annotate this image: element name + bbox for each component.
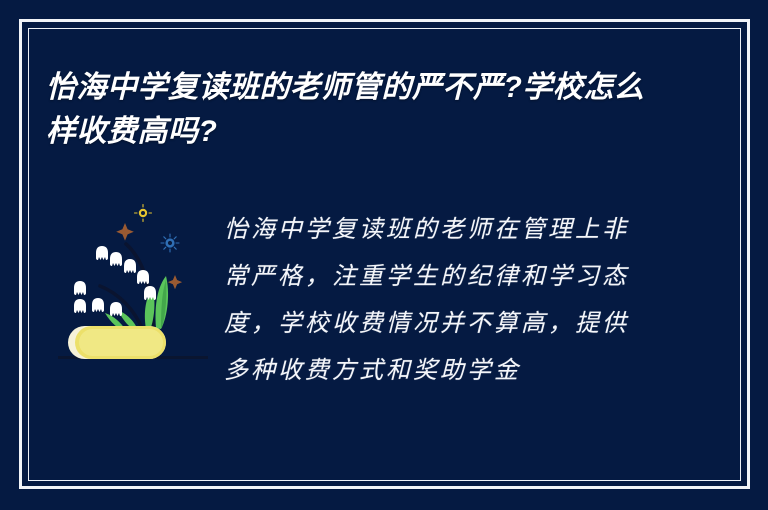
flower-pot: [68, 326, 166, 359]
sparkle-orange-lower-icon: [168, 275, 182, 289]
page-title: 怡海中学复读班的老师管的严不严?学校怎么样收费高吗?: [46, 66, 646, 154]
article-body: 怡海中学复读班的老师在管理上非常严格，注重学生的纪律和学习态度，学校收费情况并不…: [224, 206, 652, 394]
sparkle-orange-upper-icon: [116, 223, 134, 241]
sparkle-blue-icon: [161, 234, 179, 252]
article-card: 怡海中学复读班的老师管的严不严?学校怎么样收费高吗?: [0, 0, 768, 510]
illustration-lily-of-the-valley: [58, 196, 208, 372]
sparkle-gold-icon: [135, 205, 152, 222]
flower-bells: [74, 246, 156, 316]
